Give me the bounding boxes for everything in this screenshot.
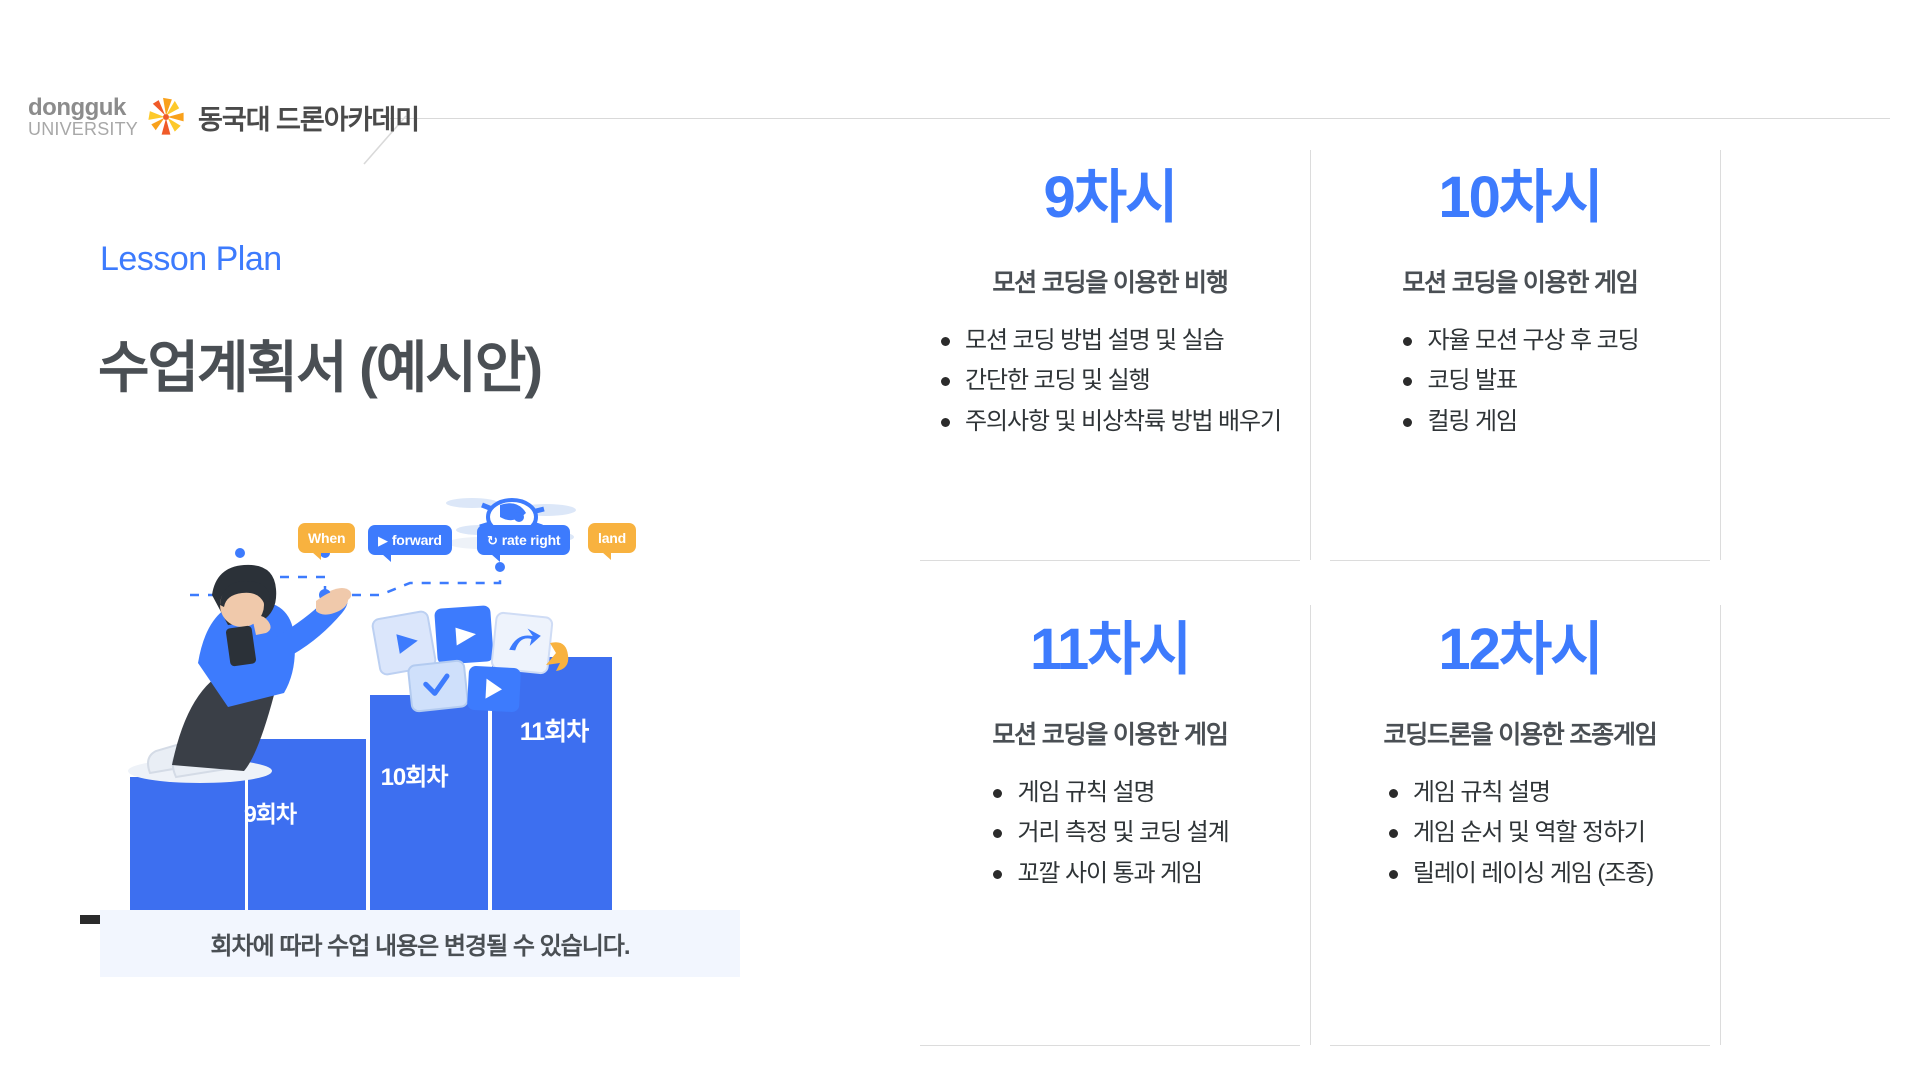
lesson-card-11-subtitle: 모션 코딩을 이용한 게임 — [910, 715, 1310, 751]
bar-label-11: 11회차 — [498, 712, 610, 748]
lesson-card-10-number: 10차시 — [1320, 168, 1720, 229]
list-item: 릴레이 레이싱 게임 (조종) — [1387, 854, 1653, 894]
list-item: 게임 순서 및 역할 정하기 — [1387, 813, 1653, 853]
lesson-card-11-list: 게임 규칙 설명 거리 측정 및 코딩 설계 꼬깔 사이 통과 게임 — [991, 773, 1228, 894]
code-block-tail — [382, 554, 391, 562]
bar-11 — [370, 695, 488, 915]
code-block-tail — [491, 554, 500, 562]
bar-label-9: 9회차 — [220, 795, 320, 829]
note-text: 회차에 따라 수업 내용은 변경될 수 있습니다. — [210, 926, 629, 961]
left-panel: Lesson Plan 수업계획서 (예시안) — [0, 150, 900, 1080]
page-header: dongguk UNIVERSITY 동국대 드론아카데미 — [0, 0, 1920, 150]
code-block-tail — [312, 552, 321, 560]
code-block-tail — [602, 552, 611, 560]
wordmark-line-university: UNIVERSITY — [28, 120, 138, 138]
code-block-land-label: land — [598, 530, 626, 546]
rotate-right-icon: ↻ — [487, 534, 498, 547]
eyebrow-label: Lesson Plan — [100, 240, 282, 279]
lesson-card-12-subtitle: 코딩드론을 이용한 조종게임 — [1320, 715, 1720, 751]
list-item: 코딩 발표 — [1401, 361, 1638, 401]
university-wordmark: dongguk UNIVERSITY — [28, 96, 138, 138]
list-item: 게임 규칙 설명 — [1387, 773, 1653, 813]
lesson-card-10[interactable]: 10차시 모션 코딩을 이용한 게임 자율 모션 구상 후 코딩 코딩 발표 컬… — [1320, 168, 1720, 442]
code-block-when-label: When — [308, 530, 345, 546]
lesson-card-9-subtitle: 모션 코딩을 이용한 비행 — [910, 263, 1310, 299]
lesson-card-11-number: 11차시 — [910, 620, 1310, 681]
lesson-card-10-list: 자율 모션 구상 후 코딩 코딩 발표 컬링 게임 — [1401, 321, 1638, 442]
code-block-forward[interactable]: ▶ forward — [368, 525, 452, 555]
brand-logo: dongguk UNIVERSITY 동국대 드론아카데미 — [28, 95, 419, 139]
lesson-card-10-subtitle: 모션 코딩을 이용한 게임 — [1320, 263, 1720, 299]
note-banner: 회차에 따라 수업 내용은 변경될 수 있습니다. — [100, 910, 740, 977]
lesson-card-12-number: 12차시 — [1320, 620, 1720, 681]
list-item: 자율 모션 구상 후 코딩 — [1401, 321, 1638, 361]
page-title: 수업계획서 (예시안) — [98, 323, 541, 404]
list-item: 주의사항 및 비상착륙 방법 배우기 — [939, 402, 1281, 442]
header-divider-line — [390, 118, 1890, 119]
card-divider-vertical — [1310, 605, 1311, 1045]
list-item: 모션 코딩 방법 설명 및 실습 — [939, 321, 1281, 361]
list-item: 거리 측정 및 코딩 설계 — [991, 813, 1228, 853]
lesson-card-9-list: 모션 코딩 방법 설명 및 실습 간단한 코딩 및 실행 주의사항 및 비상착륙… — [939, 321, 1281, 442]
play-icon: ▶ — [378, 534, 388, 547]
code-block-when[interactable]: When — [298, 523, 355, 553]
bar-label-12: 12회차 — [638, 675, 756, 711]
lesson-card-12[interactable]: 12차시 코딩드론을 이용한 조종게임 게임 규칙 설명 게임 순서 및 역할 … — [1320, 620, 1720, 894]
code-block-forward-label: forward — [392, 532, 442, 548]
lesson-card-9[interactable]: 9차시 모션 코딩을 이용한 비행 모션 코딩 방법 설명 및 실습 간단한 코… — [910, 168, 1310, 442]
code-block-rate-right[interactable]: ↻ rate right — [477, 525, 570, 555]
bar-label-10: 10회차 — [358, 757, 470, 792]
lesson-card-9-number: 9차시 — [910, 168, 1310, 229]
academy-name: 동국대 드론아카데미 — [198, 98, 419, 137]
card-divider-vertical — [1720, 605, 1721, 1045]
card-divider-vertical — [1720, 150, 1721, 560]
code-block-rate-right-label: rate right — [502, 532, 561, 548]
lesson-card-12-list: 게임 규칙 설명 게임 순서 및 역할 정하기 릴레이 레이싱 게임 (조종) — [1387, 773, 1653, 894]
bar-chart — [80, 657, 612, 924]
dongguk-lotus-icon — [144, 95, 188, 139]
list-item: 게임 규칙 설명 — [991, 773, 1228, 813]
lesson-card-11[interactable]: 11차시 모션 코딩을 이용한 게임 게임 규칙 설명 거리 측정 및 코딩 설… — [910, 620, 1310, 894]
code-block-land[interactable]: land — [588, 523, 636, 553]
list-item: 간단한 코딩 및 실행 — [939, 361, 1281, 401]
list-item: 컬링 게임 — [1401, 402, 1638, 442]
card-divider-horizontal — [1330, 560, 1710, 561]
list-item: 꼬깔 사이 통과 게임 — [991, 854, 1228, 894]
card-divider-horizontal — [1330, 1045, 1710, 1046]
card-divider-horizontal — [920, 560, 1300, 561]
wordmark-line-dongguk: dongguk — [28, 96, 138, 120]
card-divider-horizontal — [920, 1045, 1300, 1046]
card-divider-vertical — [1310, 150, 1311, 560]
lesson-cards-grid: 9차시 모션 코딩을 이용한 비행 모션 코딩 방법 설명 및 실습 간단한 코… — [900, 150, 1920, 1080]
